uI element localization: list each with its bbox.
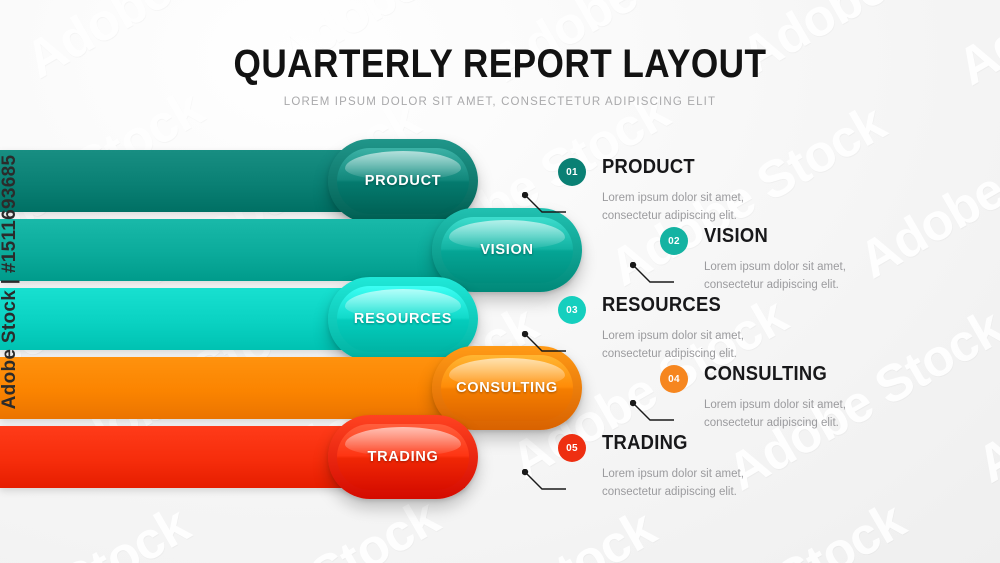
pill-inner: TRADING <box>337 424 469 490</box>
connector-svg <box>522 469 568 495</box>
pill-label: VISION <box>480 242 533 258</box>
pill-label: TRADING <box>368 449 439 465</box>
pill-button-resources[interactable]: RESOURCES <box>328 277 478 361</box>
pill-inner: RESOURCES <box>337 286 469 352</box>
stock-credit-label: Adobe Stock | #1511693685 <box>0 154 21 409</box>
info-body-text: Lorem ipsum dolor sit amet, consectetur … <box>704 397 904 433</box>
connector-line <box>630 262 676 293</box>
info-heading: CONSULTING <box>704 363 827 386</box>
pill-inner: VISION <box>441 217 573 283</box>
pill-label: RESOURCES <box>354 311 452 327</box>
step-number-badge: 04 <box>660 365 688 393</box>
page-title: QUARTERLY REPORT LAYOUT <box>60 44 940 84</box>
step-number-badge: 05 <box>558 434 586 462</box>
pill-button-product[interactable]: PRODUCT <box>328 139 478 223</box>
info-heading: VISION <box>704 225 768 248</box>
info-body-text: Lorem ipsum dolor sit amet, consectetur … <box>602 328 802 364</box>
pill-button-trading[interactable]: TRADING <box>328 415 478 499</box>
pill-label: CONSULTING <box>456 380 558 396</box>
watermark-row: Adobe StockAdobe StockAdobe StockAdobe S… <box>243 536 1000 563</box>
connector-line <box>522 331 568 362</box>
connector-line <box>630 400 676 431</box>
page-subtitle: LOREM IPSUM DOLOR SIT AMET, CONSECTETUR … <box>0 96 1000 108</box>
header: QUARTERLY REPORT LAYOUT LOREM IPSUM DOLO… <box>0 0 1000 108</box>
step-number-badge: 03 <box>558 296 586 324</box>
pill-label: PRODUCT <box>365 173 442 189</box>
info-heading: RESOURCES <box>602 294 721 317</box>
info-heading: PRODUCT <box>602 156 695 179</box>
step-number-badge: 02 <box>660 227 688 255</box>
connector-svg <box>522 192 568 218</box>
connector-line <box>522 469 568 500</box>
pill-inner: PRODUCT <box>337 148 469 214</box>
connector-line <box>522 192 568 223</box>
connector-svg <box>522 331 568 357</box>
connector-svg <box>630 400 676 426</box>
info-heading: TRADING <box>602 432 688 455</box>
step-number-badge: 01 <box>558 158 586 186</box>
info-body-text: Lorem ipsum dolor sit amet, consectetur … <box>602 190 802 226</box>
connector-svg <box>630 262 676 288</box>
pill-inner: CONSULTING <box>441 355 573 421</box>
info-body-text: Lorem ipsum dolor sit amet, consectetur … <box>704 259 904 295</box>
info-body-text: Lorem ipsum dolor sit amet, consectetur … <box>602 466 802 502</box>
